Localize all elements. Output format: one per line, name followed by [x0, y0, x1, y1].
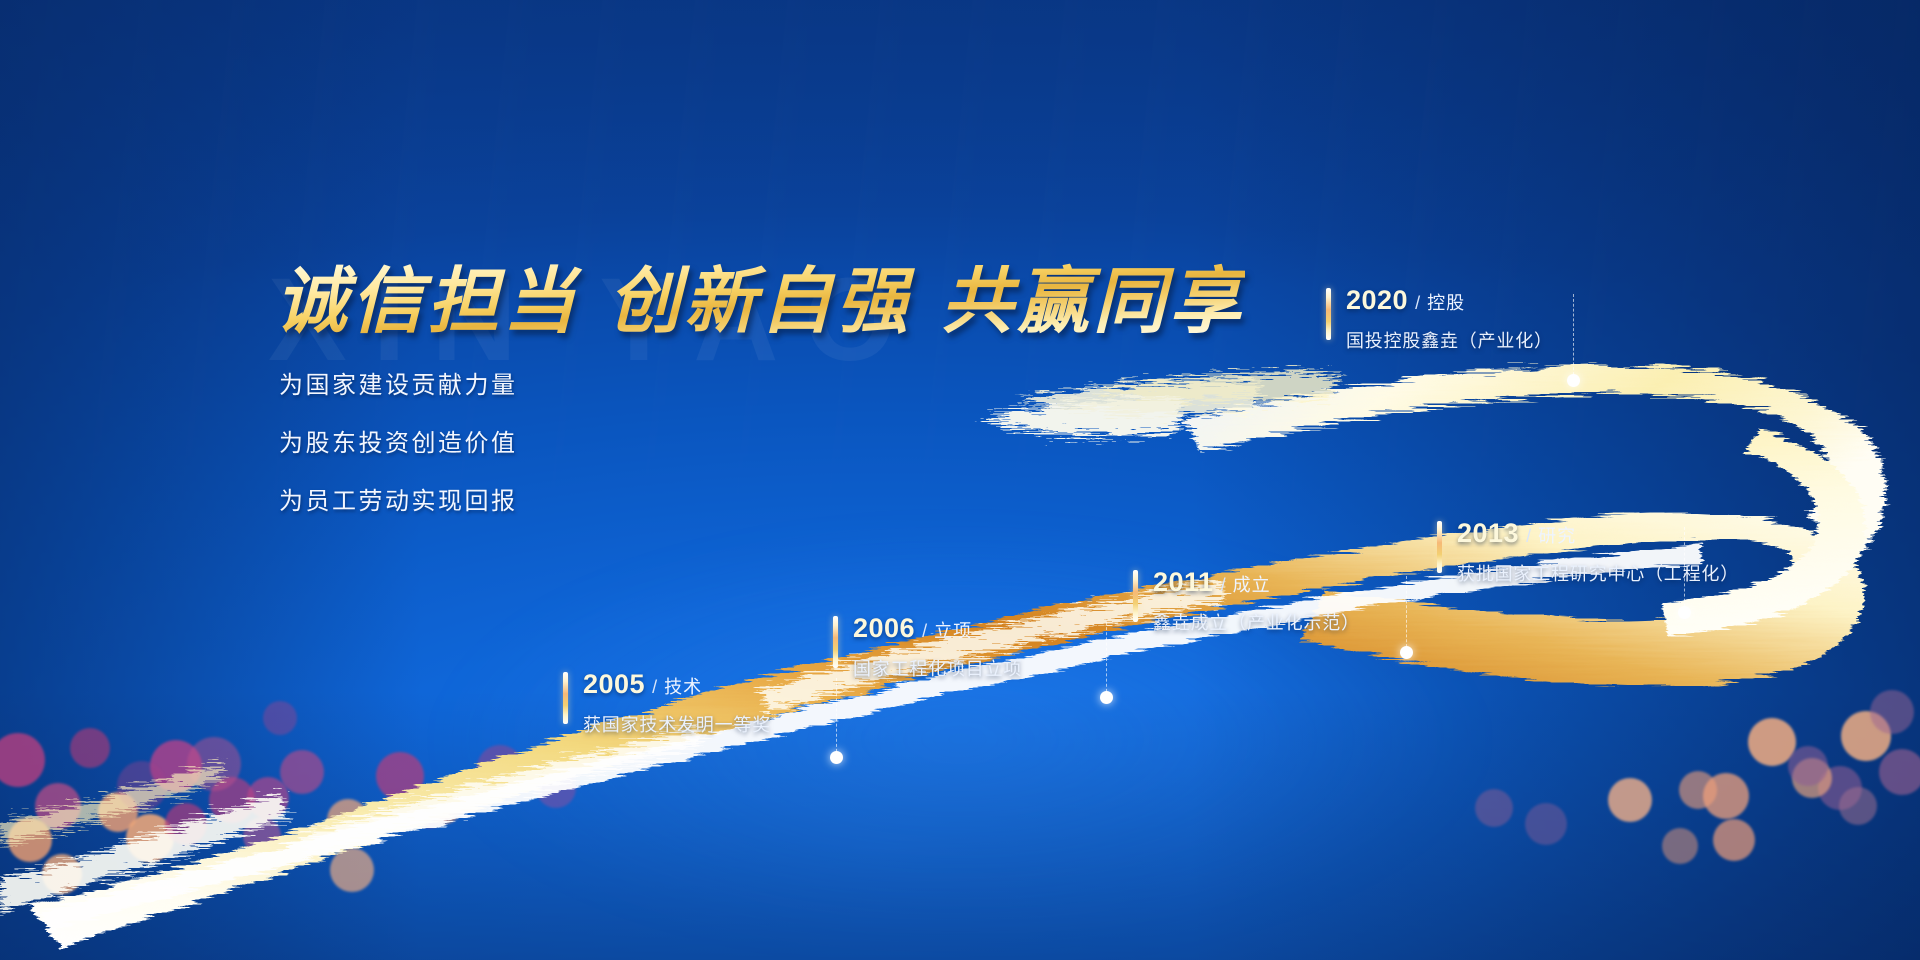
timeline-heading: 2005/技术	[583, 669, 771, 700]
timeline-tick-bar	[833, 616, 838, 668]
timeline-connector-line	[1573, 294, 1574, 380]
timeline-category: 技术	[664, 673, 702, 699]
timeline-marker-dot[interactable]	[1100, 691, 1113, 704]
slogan-line: 为国家建设贡献力量	[279, 365, 518, 400]
timeline-description: 获批国家工程研究中心（工程化）	[1457, 560, 1739, 586]
timeline-tick-bar	[563, 672, 568, 724]
timeline-year: 2013	[1457, 518, 1519, 549]
timeline-category: 控股	[1427, 289, 1465, 315]
timeline-separator: /	[1526, 526, 1531, 547]
timeline-description: 国家工程化项目立项	[853, 655, 1022, 681]
timeline-heading: 2006/立项	[853, 613, 1022, 644]
timeline-category: 研究	[1538, 522, 1576, 548]
timeline-connector-line	[836, 678, 837, 757]
timeline-category: 立项	[934, 617, 972, 643]
timeline-year: 2005	[583, 669, 645, 700]
timeline-category: 成立	[1233, 571, 1271, 597]
slogan-line: 为股东投资创造价值	[279, 423, 518, 458]
timeline-connector-line	[1684, 527, 1685, 612]
timeline-separator: /	[1415, 293, 1420, 314]
timeline-description: 国投控股鑫垚（产业化）	[1346, 327, 1553, 353]
timeline-heading: 2013/研究	[1457, 518, 1739, 549]
timeline-text-block: 2020/控股国投控股鑫垚（产业化）	[1346, 285, 1553, 353]
timeline-separator: /	[922, 621, 927, 642]
timeline-separator: /	[1221, 575, 1226, 596]
timeline-tick-bar	[1326, 288, 1331, 340]
timeline-heading: 2020/控股	[1346, 285, 1553, 316]
timeline-text-block: 2011/成立鑫垚成立（产业化示范）	[1153, 567, 1360, 635]
timeline-description: 鑫垚成立（产业化示范）	[1153, 609, 1360, 635]
timeline-description: 获国家技术发明一等奖	[583, 711, 771, 737]
timeline-marker-dot[interactable]	[1678, 606, 1691, 619]
timeline-tick-bar	[1437, 521, 1442, 573]
poster-canvas: XIN YAO 诚信担当 创新自强 共赢同享 为国家建设贡献力量 为股东投资创造…	[0, 0, 1920, 960]
timeline-text-block: 2006/立项国家工程化项目立项	[853, 613, 1022, 681]
slogan-list: 为国家建设贡献力量 为股东投资创造价值 为员工劳动实现回报	[279, 365, 518, 516]
timeline-connector-line	[1406, 576, 1407, 652]
timeline-marker-dot[interactable]	[1567, 374, 1580, 387]
slogan-line: 为员工劳动实现回报	[279, 481, 518, 516]
timeline-heading: 2011/成立	[1153, 567, 1360, 598]
timeline-text-block: 2013/研究获批国家工程研究中心（工程化）	[1457, 518, 1739, 586]
timeline-marker-dot[interactable]	[830, 751, 843, 764]
timeline-connector-line	[1106, 622, 1107, 697]
timeline-tick-bar	[1133, 570, 1138, 622]
page-title: 诚信担当 创新自强 共赢同享	[275, 242, 1245, 347]
timeline-year: 2006	[853, 613, 915, 644]
timeline-year: 2011	[1153, 567, 1214, 598]
timeline-marker-dot[interactable]	[1400, 646, 1413, 659]
timeline-separator: /	[652, 677, 657, 698]
timeline-text-block: 2005/技术获国家技术发明一等奖	[583, 669, 771, 737]
timeline-year: 2020	[1346, 285, 1408, 316]
